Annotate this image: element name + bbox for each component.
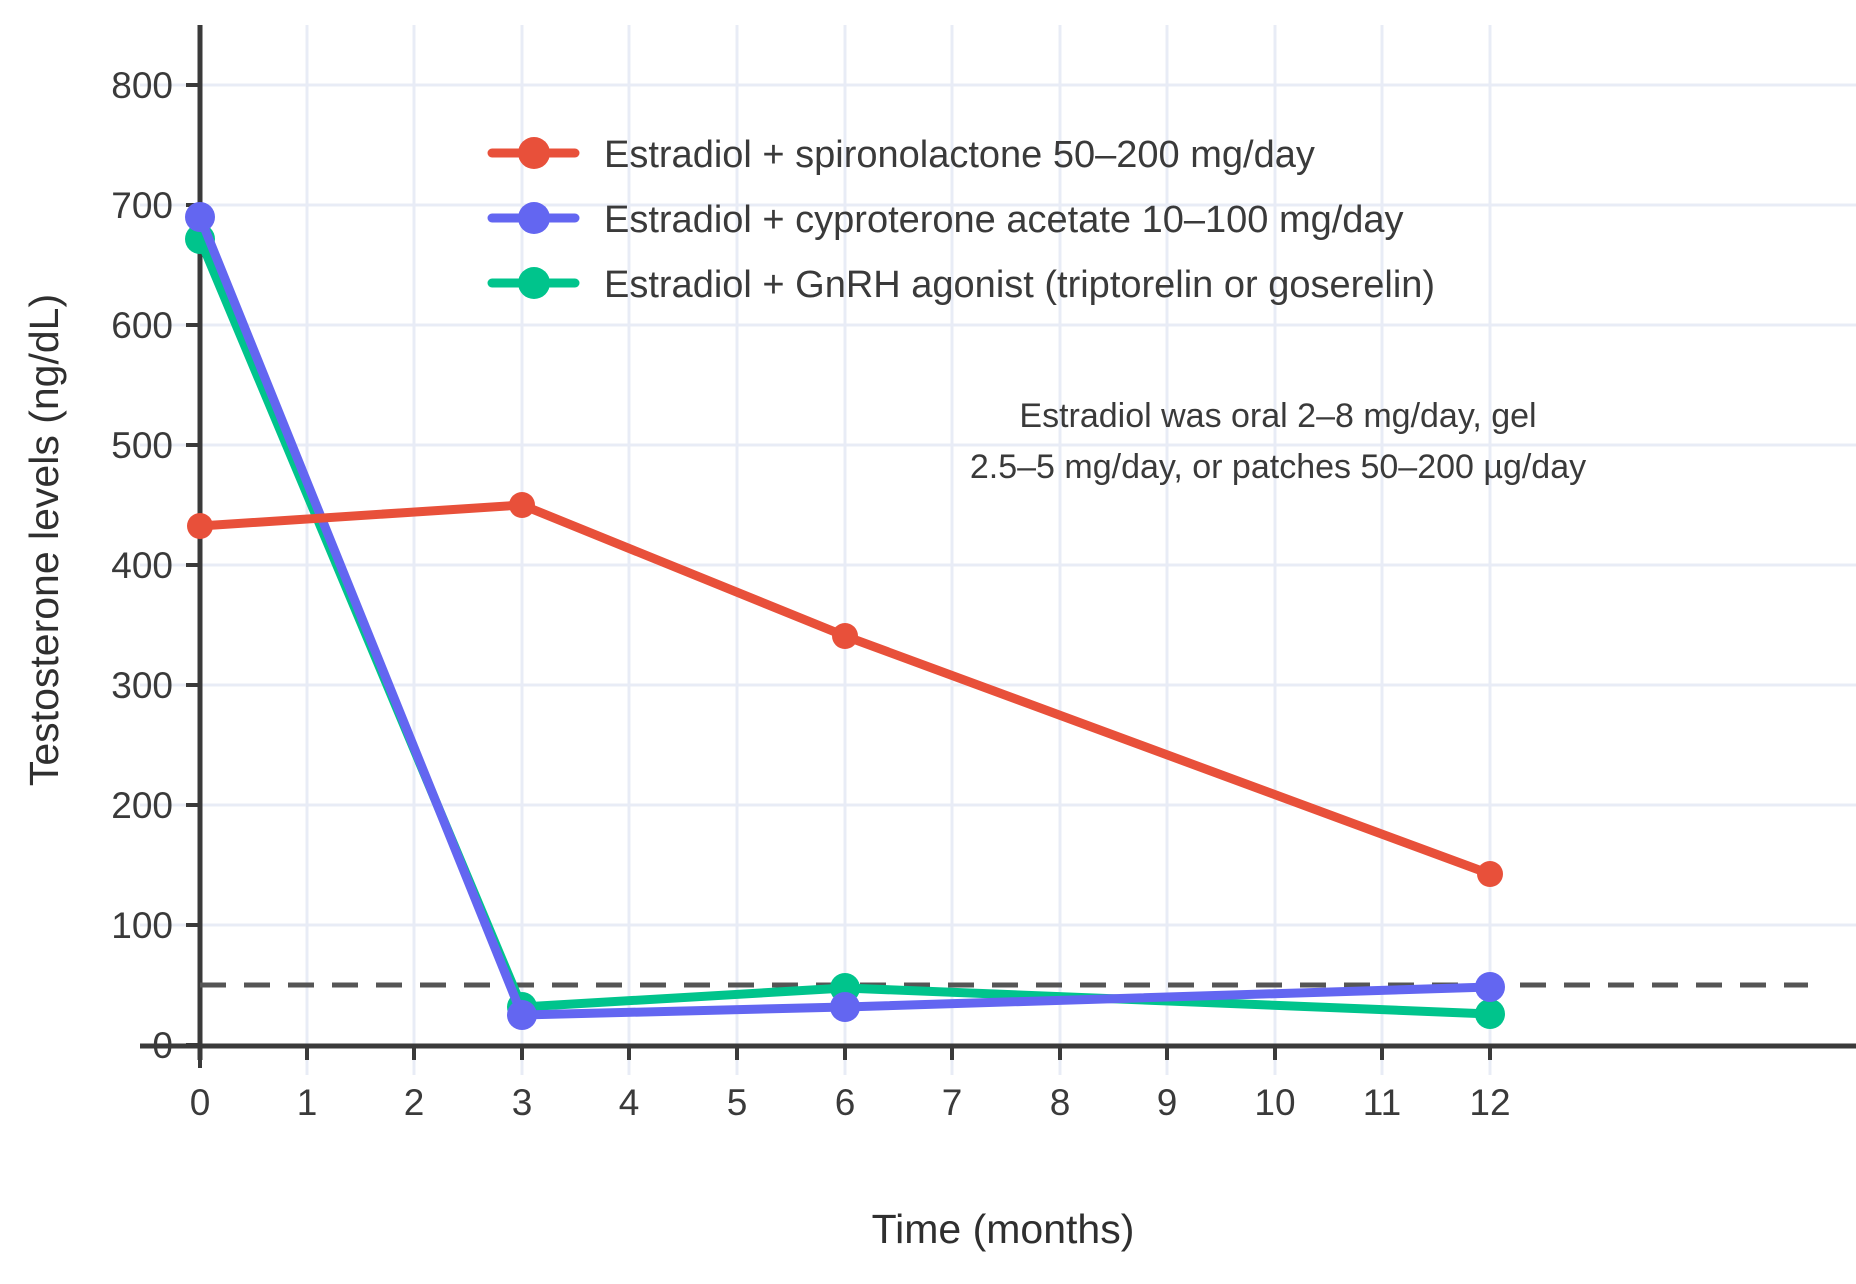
annotation-line-1: Estradiol was oral 2–8 mg/day, gel <box>1019 397 1536 435</box>
legend-swatch-marker-spironolactone <box>518 137 550 169</box>
x-tick-label: 12 <box>1469 1082 1510 1123</box>
y-tick-label: 600 <box>111 305 173 346</box>
estradiol-dosing-annotation: Estradiol was oral 2–8 mg/day, gel 2.5–5… <box>970 397 1586 486</box>
y-tick-label: 100 <box>111 905 173 946</box>
y-tick-label: 300 <box>111 665 173 706</box>
x-axis-title: Time (months) <box>872 1206 1135 1252</box>
legend-swatch-marker-gnrh-agonist <box>518 267 550 299</box>
x-tick-label: 6 <box>835 1082 856 1123</box>
annotation-line-2: 2.5–5 mg/day, or patches 50–200 µg/day <box>970 448 1586 486</box>
x-tick-label: 7 <box>942 1082 963 1123</box>
legend-item-gnrh-agonist[interactable]: Estradiol + GnRH agonist (triptorelin or… <box>492 264 1435 306</box>
chart-container: 800 700 600 500 400 300 200 100 0 0 1 2 … <box>0 0 1856 1284</box>
x-tick-label: 9 <box>1157 1082 1178 1123</box>
x-tick-label: 0 <box>190 1082 211 1123</box>
legend: Estradiol + spironolactone 50–200 mg/day… <box>492 134 1435 306</box>
x-tick-label: 3 <box>512 1082 533 1123</box>
legend-swatch-marker-cyproterone-acetate <box>518 202 550 234</box>
x-tick-label: 11 <box>1363 1082 1401 1123</box>
legend-label-spironolactone: Estradiol + spironolactone 50–200 mg/day <box>604 134 1315 176</box>
y-tick-label: 500 <box>111 425 173 466</box>
y-tick-label: 700 <box>111 185 173 226</box>
x-tick-label: 4 <box>619 1082 640 1123</box>
y-tick-label: 0 <box>152 1025 173 1066</box>
legend-item-cyproterone-acetate[interactable]: Estradiol + cyproterone acetate 10–100 m… <box>492 199 1404 241</box>
y-tick-label: 400 <box>111 545 173 586</box>
legend-label-gnrh-agonist: Estradiol + GnRH agonist (triptorelin or… <box>604 264 1435 306</box>
x-tick-label: 1 <box>297 1082 318 1123</box>
x-tick-label: 10 <box>1254 1082 1295 1123</box>
x-tick-label: 5 <box>727 1082 748 1123</box>
y-axis-title: Testosterone levels (ng/dL) <box>21 294 67 786</box>
x-tick-label: 2 <box>404 1082 425 1123</box>
legend-label-cyproterone-acetate: Estradiol + cyproterone acetate 10–100 m… <box>604 199 1404 241</box>
y-tick-label: 200 <box>111 785 173 826</box>
legend-item-spironolactone[interactable]: Estradiol + spironolactone 50–200 mg/day <box>492 134 1315 176</box>
line-chart: 800 700 600 500 400 300 200 100 0 0 1 2 … <box>0 0 1856 1284</box>
x-tick-label: 8 <box>1050 1082 1071 1123</box>
y-tick-label: 800 <box>111 65 173 106</box>
